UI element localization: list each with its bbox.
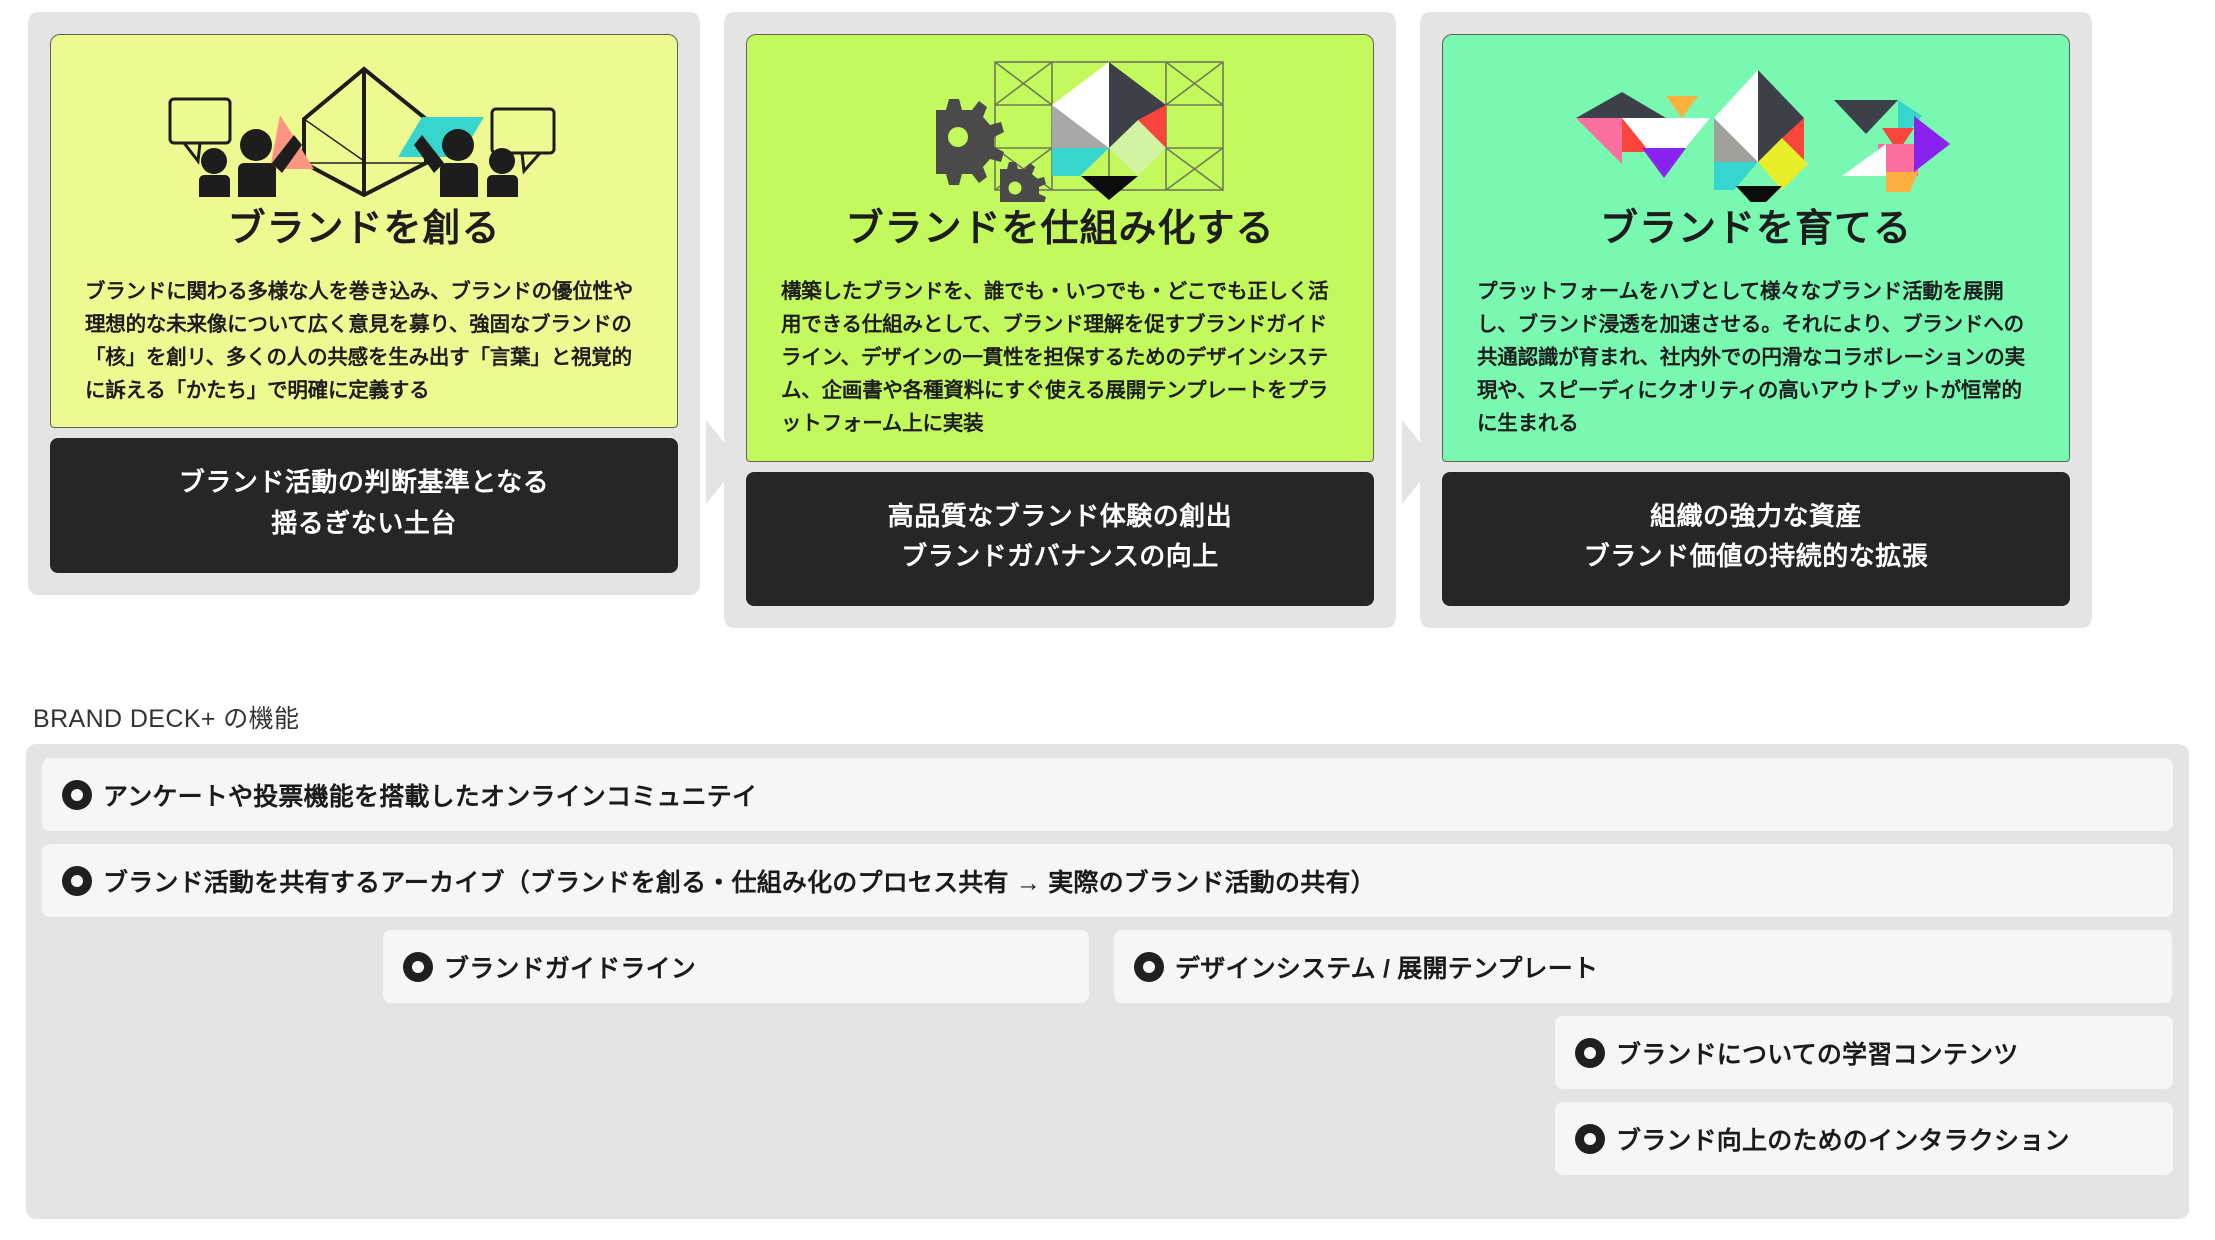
people-diamond-speech-bubbles-icon xyxy=(51,53,677,201)
ring-bullet-icon xyxy=(62,780,92,810)
features-panel: アンケートや投票機能を搭載したオンラインコミュニテイ ブランド活動を共有するアー… xyxy=(26,744,2189,1219)
feature-row-5: ブランド向上のためのインタラクション xyxy=(42,1102,2173,1175)
ring-bullet-icon xyxy=(403,952,433,982)
feature-item-brand-guideline[interactable]: ブランドガイドライン xyxy=(383,930,1089,1003)
stage-footer-line1: ブランド活動の判断基準となる xyxy=(60,462,668,502)
feature-row-4: ブランドについての学習コンテンツ xyxy=(42,1016,2173,1089)
feature-item-interaction[interactable]: ブランド向上のためのインタラクション xyxy=(1555,1102,2173,1175)
ring-bullet-icon xyxy=(1575,1038,1605,1068)
feature-label: ブランドガイドライン xyxy=(444,949,696,985)
ring-bullet-icon xyxy=(62,866,92,896)
ring-bullet-icon xyxy=(1575,1124,1605,1154)
stage-body-systemize: 構築したブランドを、誰でも・いつでも・どこでも正しく活用できる仕組みとして、ブラ… xyxy=(747,275,1373,447)
stage-footer-line2: 揺るぎない土台 xyxy=(60,503,668,543)
stage-card-systemize[interactable]: ブランドを仕組み化する 構築したブランドを、誰でも・いつでも・どこでも正しく活用… xyxy=(724,12,1396,628)
stage-title-grow: ブランドを育てる xyxy=(1443,207,2069,253)
stage-footer-line1: 高品質なブランド体験の創出 xyxy=(756,496,1364,536)
stage-card-create[interactable]: ブランドを創る ブランドに関わる多様な人を巻き込み、ブランドの優位性や理想的な未… xyxy=(28,12,700,595)
stage-card-body-systemize: ブランドを仕組み化する 構築したブランドを、誰でも・いつでも・どこでも正しく活用… xyxy=(746,34,1374,462)
feature-item-design-system[interactable]: デザインシステム / 展開テンプレート xyxy=(1114,930,2172,1003)
stage-card-body-grow: ブランドを育てる プラットフォームをハブとして様々なブランド活動を展開し、ブラン… xyxy=(1442,34,2070,462)
feature-row-1: アンケートや投票機能を搭載したオンラインコミュニテイ xyxy=(42,758,2173,831)
stage-card-body-create: ブランドを創る ブランドに関わる多様な人を巻き込み、ブランドの優位性や理想的な未… xyxy=(50,34,678,428)
stage-footer-grow: 組織の強力な資産 ブランド価値の持続的な拡張 xyxy=(1442,472,2070,607)
feature-label: アンケートや投票機能を搭載したオンラインコミュニテイ xyxy=(103,777,757,813)
feature-item-community[interactable]: アンケートや投票機能を搭載したオンラインコミュニテイ xyxy=(42,758,2173,831)
brand-deck-overview: ブランドを創る ブランドに関わる多様な人を巻き込み、ブランドの優位性や理想的な未… xyxy=(0,0,2215,1240)
stage-title-create: ブランドを創る xyxy=(51,207,677,253)
stage-body-create: ブランドに関わる多様な人を巻き込み、ブランドの優位性や理想的な未来像について広く… xyxy=(51,275,677,414)
stage-title-systemize: ブランドを仕組み化する xyxy=(747,207,1373,253)
grid-gears-tangram-icon xyxy=(747,53,1373,201)
stage-body-grow: プラットフォームをハブとして様々なブランド活動を展開し、ブランド浸透を加速させる… xyxy=(1443,275,2069,447)
feature-label: ブランド向上のためのインタラクション xyxy=(1616,1121,2070,1157)
feature-item-learning-content[interactable]: ブランドについての学習コンテンツ xyxy=(1555,1016,2173,1089)
feature-item-archive[interactable]: ブランド活動を共有するアーカイブ（ブランドを創る・仕組み化のプロセス共有 → 実… xyxy=(42,844,2173,917)
stage-footer-line1: 組織の強力な資産 xyxy=(1452,496,2060,536)
feature-row-3: ブランドガイドライン デザインシステム / 展開テンプレート xyxy=(42,930,2173,1003)
tangram-shapes-trio-icon xyxy=(1443,53,2069,201)
stage-footer-line2: ブランド価値の持続的な拡張 xyxy=(1452,536,2060,576)
stage-card-grow[interactable]: ブランドを育てる プラットフォームをハブとして様々なブランド活動を展開し、ブラン… xyxy=(1420,12,2092,628)
stage-footer-line2: ブランドガバナンスの向上 xyxy=(756,536,1364,576)
features-section-label: BRAND DECK+ の機能 xyxy=(33,699,299,735)
stage-footer-systemize: 高品質なブランド体験の創出 ブランドガバナンスの向上 xyxy=(746,472,1374,607)
stage-cards-row: ブランドを創る ブランドに関わる多様な人を巻き込み、ブランドの優位性や理想的な未… xyxy=(0,0,2215,700)
feature-label: デザインシステム / 展開テンプレート xyxy=(1175,949,1598,985)
feature-label: ブランド活動を共有するアーカイブ（ブランドを創る・仕組み化のプロセス共有 → 実… xyxy=(103,863,1376,899)
feature-label: ブランドについての学習コンテンツ xyxy=(1616,1035,2018,1071)
feature-row-2: ブランド活動を共有するアーカイブ（ブランドを創る・仕組み化のプロセス共有 → 実… xyxy=(42,844,2173,917)
ring-bullet-icon xyxy=(1134,952,1164,982)
stage-footer-create: ブランド活動の判断基準となる 揺るぎない土台 xyxy=(50,438,678,573)
